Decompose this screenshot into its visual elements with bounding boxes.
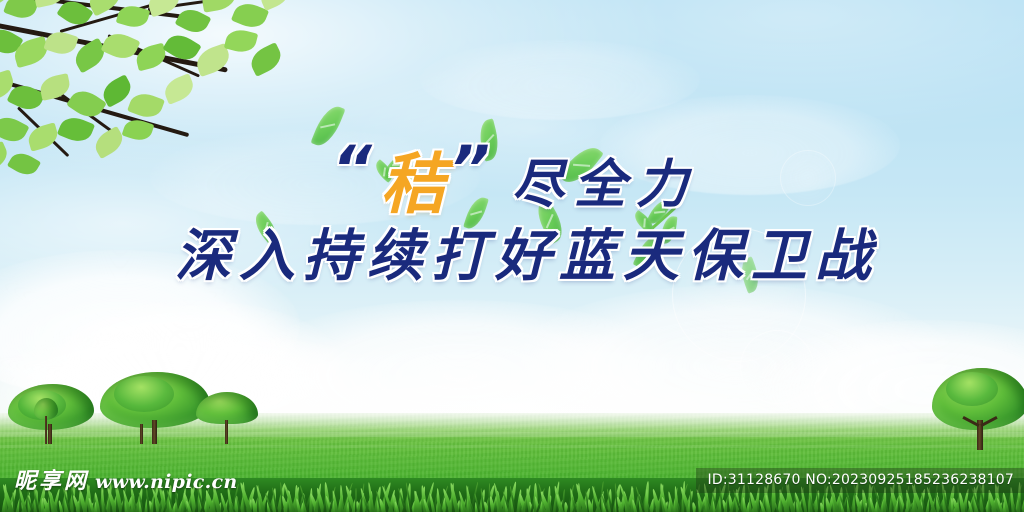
watermark-url: www.nipic.cn <box>95 471 237 493</box>
field-stripe <box>0 445 1024 448</box>
tree-left-sapling <box>34 398 58 444</box>
watermark-logo: 昵 享 网 <box>14 470 86 494</box>
watermark-logo-char: 网 <box>64 470 86 494</box>
quote-close-mark: ” <box>450 138 496 200</box>
headline-block: “ 秸 ” 尽全力 深入持续打好蓝天保卫战 <box>0 138 1024 286</box>
watermark: 昵 享 网 www.nipic.cn <box>14 470 238 494</box>
watermark-logo-char: 享 <box>39 470 61 494</box>
image-id-text: ID:31128670 NO:20230925185236238107 <box>708 472 1014 488</box>
headline-line-1-text: 尽全力 <box>512 142 698 217</box>
tree-far-right <box>932 368 1024 450</box>
headline-line-2: 深入持续打好蓝天保卫战 <box>0 216 1024 286</box>
quote-open-mark: “ <box>332 138 378 200</box>
watermark-logo-char: 昵 <box>14 470 36 494</box>
poster-canvas: “ 秸 ” 尽全力 深入持续打好蓝天保卫战 昵 享 网 www.nipic.cn… <box>0 0 1024 512</box>
tree-center-large <box>100 372 210 444</box>
image-id-bar: ID:31128670 NO:20230925185236238107 <box>696 468 1024 493</box>
headline-line-1: “ 秸 ” 尽全力 <box>0 138 1024 220</box>
headline-line-2-text: 深入持续打好蓝天保卫战 <box>175 211 879 292</box>
tree-right-mid <box>196 392 258 444</box>
